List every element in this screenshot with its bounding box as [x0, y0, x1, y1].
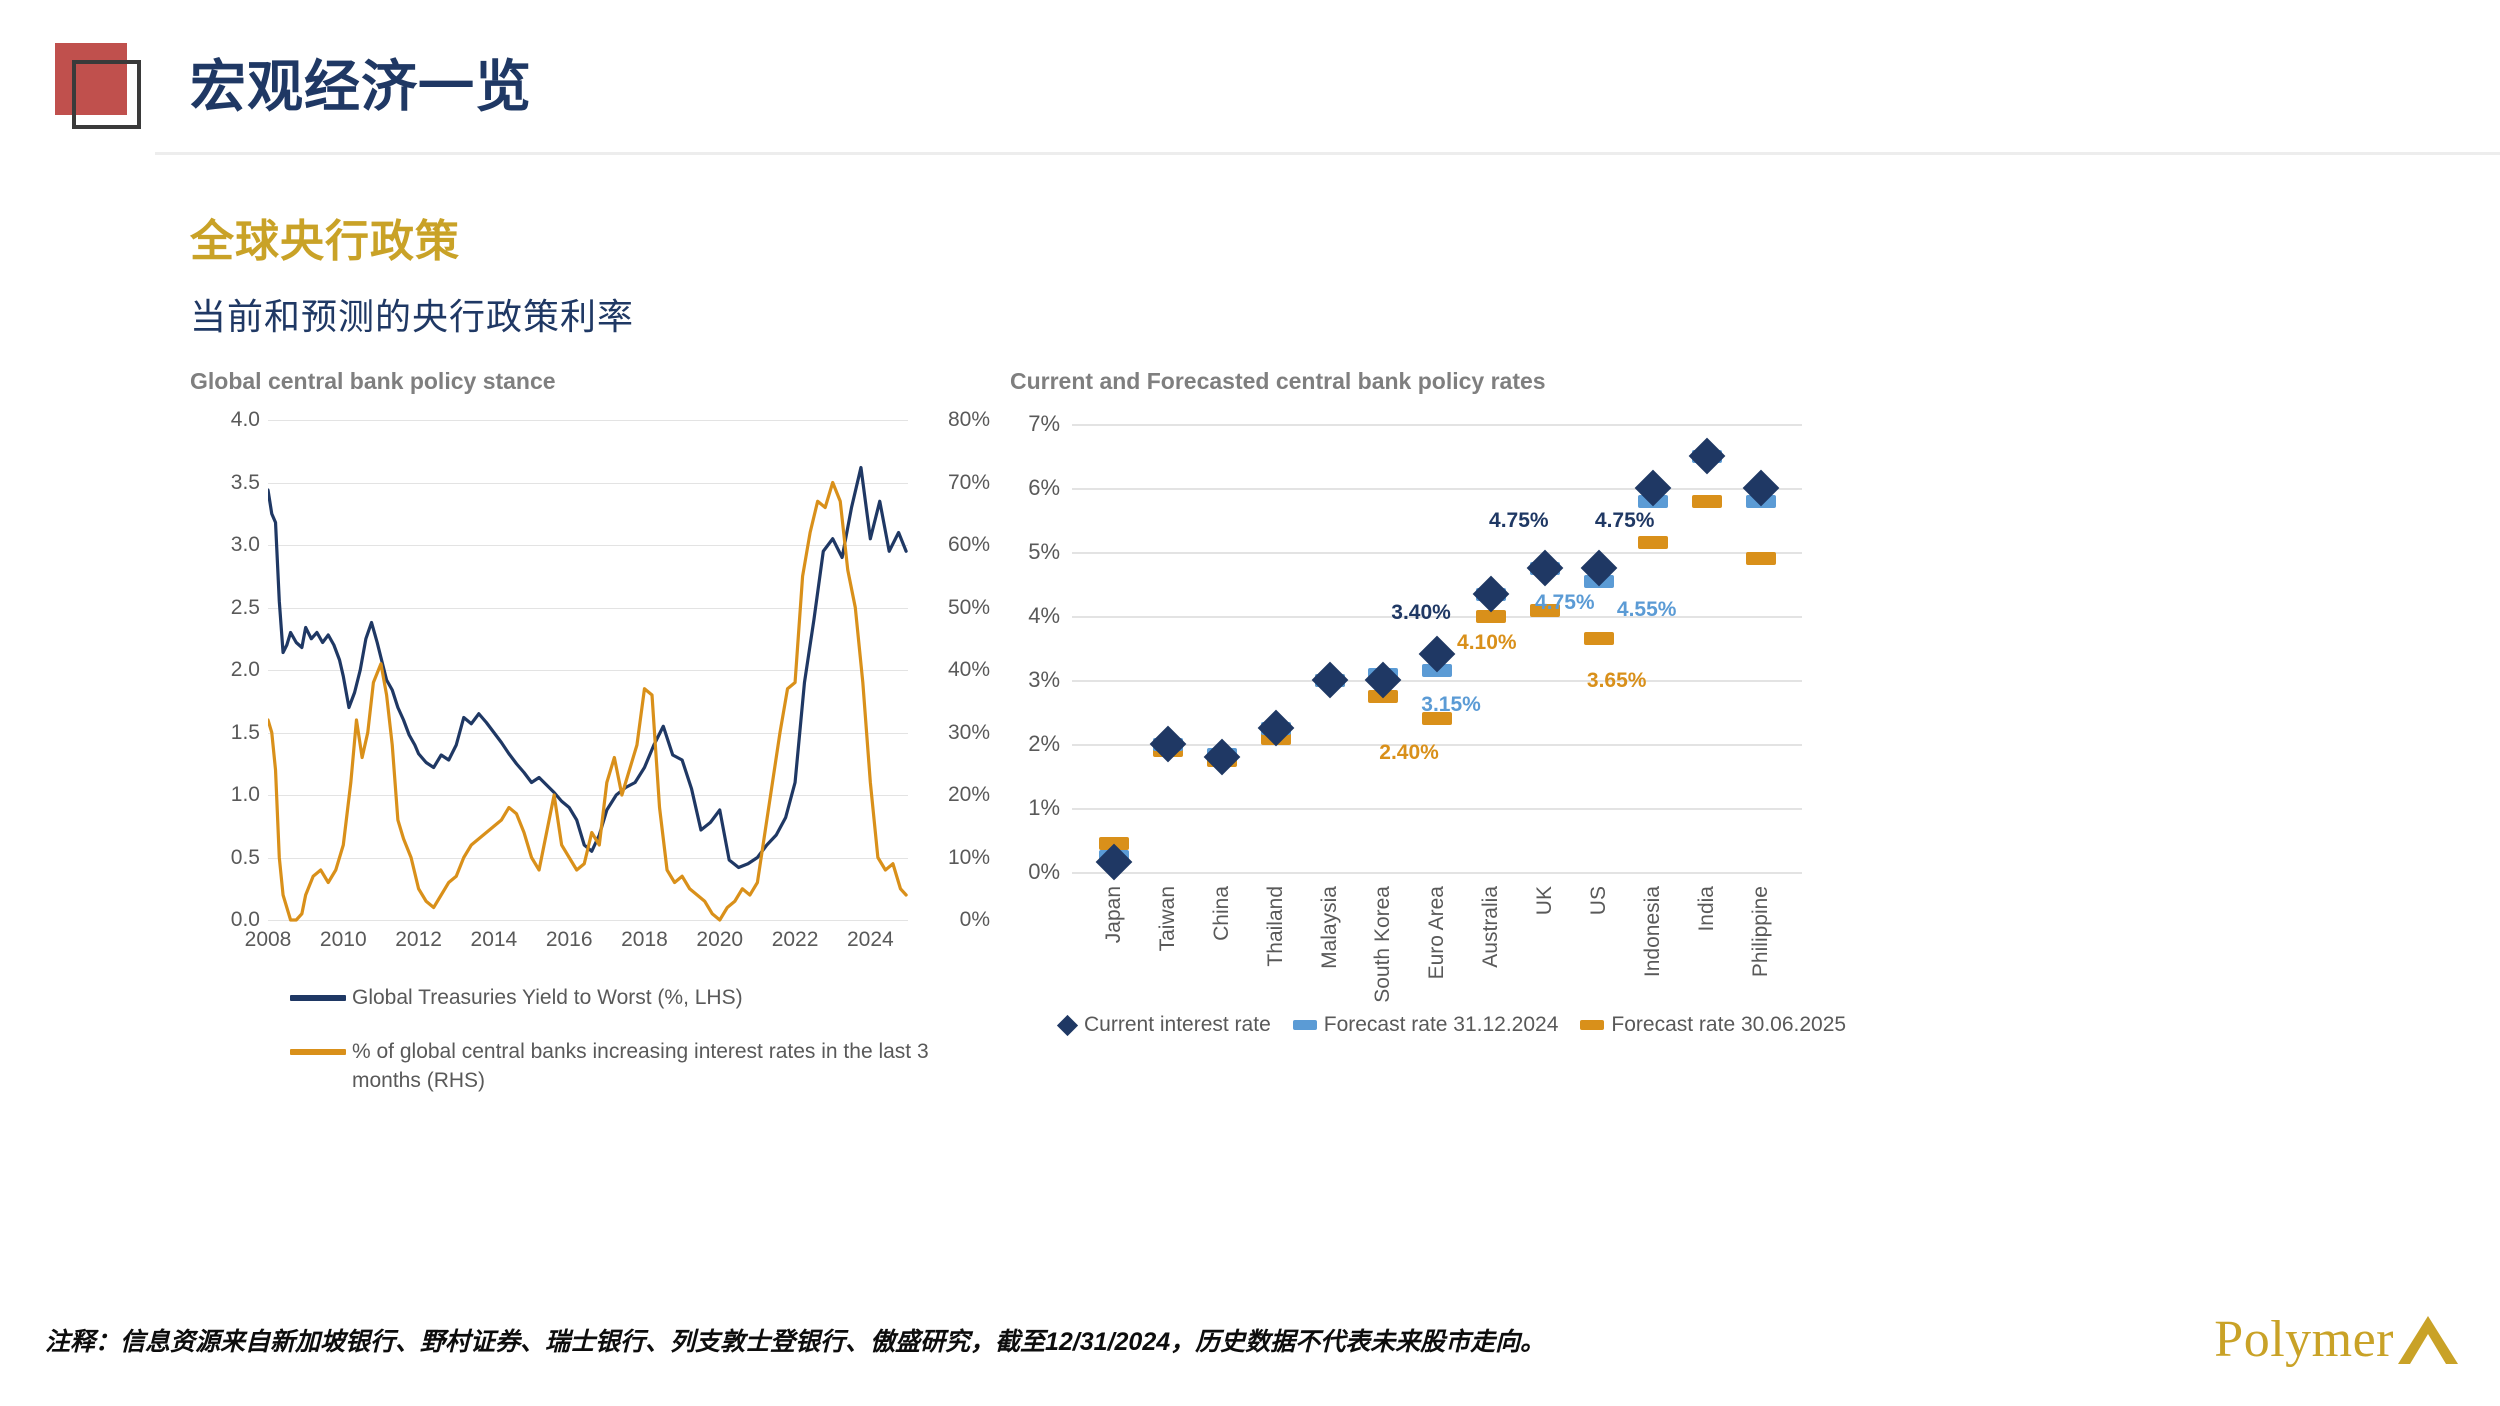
chart-right-ytick-label: 7% — [1000, 411, 1060, 437]
polymer-caret-icon — [2396, 1314, 2460, 1366]
diamond-marker-icon — [1257, 710, 1294, 747]
chart-right-ytick-label: 0% — [1000, 859, 1060, 885]
bar-marker-icon — [1638, 536, 1668, 549]
chart-right-datapoint — [1586, 555, 1612, 581]
section-title: 全球央行政策 — [190, 205, 460, 269]
chart-left-legend-item[interactable]: Global Treasuries Yield to Worst (%, LHS… — [290, 984, 980, 1012]
bar-marker-icon — [1584, 632, 1614, 645]
section-subtitle: 当前和预测的央行政策利率 — [190, 288, 634, 340]
chart-left-ytick-label: 3.0 — [190, 533, 260, 557]
chart-left-title: Global central bank policy stance — [190, 368, 980, 395]
slide: 宏观经济一览 全球央行政策 当前和预测的央行政策利率 Global centra… — [0, 0, 2500, 1406]
chart-right-category-label: Euro Area — [1425, 886, 1449, 979]
legend-bar-icon — [1293, 1020, 1317, 1030]
header-divider — [155, 152, 2500, 155]
diamond-marker-icon — [1419, 636, 1456, 673]
chart-left-ytick-label: 1.5 — [190, 721, 260, 745]
chart-left-legend-item[interactable]: % of global central banks increasing int… — [290, 1038, 980, 1095]
chart-left-xtick-label: 2012 — [395, 928, 442, 952]
chart-right-data-label: 3.15% — [1421, 693, 1481, 717]
chart-right-datapoint — [1370, 667, 1396, 693]
chart-right-gridline — [1072, 552, 1802, 554]
bar-marker-icon — [1746, 552, 1776, 565]
chart-right-data-label: 2.40% — [1379, 741, 1439, 765]
chart-left-ytick-label: 2.5 — [190, 596, 260, 620]
chart-right-data-label: 3.40% — [1391, 601, 1451, 625]
chart-right-category-label: China — [1210, 886, 1234, 941]
diamond-marker-icon — [1096, 844, 1133, 881]
chart-right-data-label: 4.55% — [1617, 598, 1677, 622]
chart-right-ytick-label: 4% — [1000, 603, 1060, 629]
chart-right-plot-area: 0%1%2%3%4%5%6%7%JapanTaiwanChinaThailand… — [1072, 424, 1802, 872]
diamond-marker-icon — [1527, 550, 1564, 587]
chart-right-datapoint — [1101, 849, 1127, 875]
page-title: 宏观经济一览 — [190, 42, 532, 123]
chart-right-legend-item[interactable]: Forecast rate 30.06.2025 — [1580, 1013, 1846, 1037]
diamond-marker-icon — [1634, 470, 1671, 507]
chart-right-category-label: Malaysia — [1318, 886, 1342, 969]
chart-right-data-label: 4.75% — [1535, 591, 1595, 615]
brand-square-logo-icon — [55, 43, 141, 129]
chart-left-xtick-label: 2010 — [320, 928, 367, 952]
chart-right-category-label: Australia — [1479, 886, 1503, 968]
chart-right-category-label: US — [1587, 886, 1611, 915]
chart-right-category-label: Indonesia — [1641, 886, 1665, 977]
chart-right-title: Current and Forecasted central bank poli… — [1010, 368, 2310, 395]
legend-series-label: Global Treasuries Yield to Worst (%, LHS… — [352, 984, 743, 1012]
chart-left-ytick-label: 3.5 — [190, 471, 260, 495]
chart-right-ytick-label: 3% — [1000, 667, 1060, 693]
chart-left-legend: Global Treasuries Yield to Worst (%, LHS… — [290, 984, 980, 1121]
diamond-marker-icon — [1203, 738, 1240, 775]
chart-right-datapoint — [1317, 667, 1343, 693]
chart-right-category-label: Taiwan — [1156, 886, 1180, 951]
chart-left-y2tick-label: 80% — [918, 408, 990, 432]
chart-right-data-label: 4.10% — [1457, 631, 1517, 655]
chart-left-xtick-label: 2008 — [245, 928, 292, 952]
chart-right-datapoint — [1746, 552, 1776, 565]
chart-right-data-label: 3.65% — [1587, 669, 1647, 693]
chart-left-y2tick-label: 40% — [918, 658, 990, 682]
chart-left-ytick-label: 4.0 — [190, 408, 260, 432]
polymer-wordmark: Polymer — [2214, 1310, 2394, 1369]
chart-right-ytick-label: 5% — [1000, 539, 1060, 565]
chart-left-xtick-label: 2020 — [696, 928, 743, 952]
chart-right-ytick-label: 2% — [1000, 731, 1060, 757]
diamond-marker-icon — [1581, 550, 1618, 587]
chart-right-datapoint — [1155, 731, 1181, 757]
chart-current-and-forecasted-policy-rates: Current and Forecasted central bank poli… — [1010, 368, 2310, 1108]
chart-left-xtick-label: 2018 — [621, 928, 668, 952]
chart-right-datapoint — [1694, 443, 1720, 469]
chart-right-category-label: Philippine — [1749, 886, 1773, 977]
chart-right-data-label: 4.75% — [1595, 509, 1655, 533]
chart-right-data-label: 4.75% — [1489, 509, 1549, 533]
chart-right-datapoint — [1640, 475, 1666, 501]
bar-marker-icon — [1692, 495, 1722, 508]
diamond-marker-icon — [1365, 662, 1402, 699]
chart-right-ytick-label: 6% — [1000, 475, 1060, 501]
chart-left-ytick-label: 2.0 — [190, 658, 260, 682]
chart-global-central-bank-policy-stance: Global central bank policy stance 0.00%0… — [190, 368, 980, 1108]
chart-right-gridline — [1072, 872, 1802, 874]
legend-series-label: Forecast rate 30.06.2025 — [1611, 1013, 1846, 1037]
chart-right-legend-item[interactable]: Forecast rate 31.12.2024 — [1293, 1013, 1559, 1037]
chart-right-category-label: South Korea — [1371, 886, 1395, 1003]
diamond-marker-icon — [1150, 726, 1187, 763]
chart-left-plot-area: 0.00%0.510%1.020%1.530%2.040%2.550%3.060… — [268, 420, 908, 920]
chart-left-ytick-label: 0.5 — [190, 846, 260, 870]
chart-right-datapoint — [1638, 536, 1668, 549]
diamond-marker-icon — [1473, 575, 1510, 612]
chart-right-category-label: Thailand — [1264, 886, 1288, 967]
chart-left-y2tick-label: 60% — [918, 533, 990, 557]
chart-left-xtick-label: 2024 — [847, 928, 894, 952]
chart-left-ytick-label: 1.0 — [190, 783, 260, 807]
chart-right-datapoint — [1748, 475, 1774, 501]
diamond-marker-icon — [1742, 470, 1779, 507]
footnote-disclaimer: 注释：信息资源来自新加坡银行、野村证券、瑞士银行、列支敦士登银行、傲盛研究，截至… — [45, 1322, 1545, 1358]
chart-right-datapoint — [1424, 641, 1450, 667]
chart-right-gridline — [1072, 488, 1802, 490]
chart-right-datapoint — [1584, 632, 1614, 645]
chart-left-series-line — [268, 483, 906, 921]
logo-outline-square — [72, 60, 141, 129]
legend-series-label: % of global central banks increasing int… — [352, 1038, 952, 1095]
chart-right-legend-item[interactable]: Current interest rate — [1060, 1013, 1271, 1037]
chart-right-category-label: India — [1695, 886, 1719, 932]
chart-right-datapoint — [1263, 715, 1289, 741]
chart-right-gridline — [1072, 680, 1802, 682]
chart-left-xtick-label: 2014 — [471, 928, 518, 952]
chart-right-legend: Current interest rateForecast rate 31.12… — [1060, 1013, 1868, 1037]
chart-left-y2tick-label: 0% — [918, 908, 990, 932]
legend-series-label: Current interest rate — [1084, 1013, 1271, 1037]
chart-left-series-canvas — [268, 420, 908, 922]
chart-right-datapoint — [1532, 555, 1558, 581]
legend-series-label: Forecast rate 31.12.2024 — [1324, 1013, 1559, 1037]
legend-bar-icon — [1580, 1020, 1604, 1030]
chart-right-category-label: UK — [1533, 886, 1557, 915]
chart-right-gridline — [1072, 424, 1802, 426]
chart-right-datapoint — [1478, 581, 1504, 607]
chart-left-y2tick-label: 10% — [918, 846, 990, 870]
legend-color-swatch — [290, 995, 346, 1001]
chart-left-y2tick-label: 20% — [918, 783, 990, 807]
chart-left-y2tick-label: 30% — [918, 721, 990, 745]
diamond-marker-icon — [1311, 662, 1348, 699]
slide-header: 宏观经济一览 — [0, 0, 2500, 160]
chart-right-ytick-label: 1% — [1000, 795, 1060, 821]
polymer-brand-logo: Polymer — [2214, 1310, 2460, 1369]
chart-right-gridline — [1072, 808, 1802, 810]
chart-left-xtick-label: 2016 — [546, 928, 593, 952]
legend-color-swatch — [290, 1049, 346, 1055]
chart-right-datapoint — [1692, 495, 1722, 508]
chart-left-y2tick-label: 50% — [918, 596, 990, 620]
chart-right-datapoint — [1209, 744, 1235, 770]
legend-diamond-icon — [1057, 1014, 1078, 1035]
chart-right-category-label: Japan — [1102, 886, 1126, 943]
chart-left-y2tick-label: 70% — [918, 471, 990, 495]
diamond-marker-icon — [1688, 438, 1725, 475]
chart-left-xtick-label: 2022 — [772, 928, 819, 952]
